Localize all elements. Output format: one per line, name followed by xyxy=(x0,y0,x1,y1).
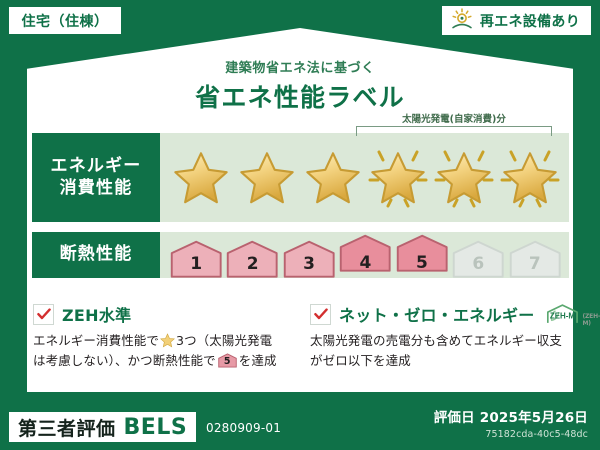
checkbox-zeh[interactable] xyxy=(33,304,54,325)
building-type-label: 住宅（住棟） xyxy=(22,11,109,31)
star-filled-solar xyxy=(365,133,431,222)
energy-performance-stars-area: 太陽光発電(自家消費)分 xyxy=(160,133,569,222)
criterion-nze-title: ネット・ゼロ・エネルギー xyxy=(339,302,535,326)
star-icon xyxy=(238,150,296,206)
zeh-m-logo-caption: (ZEH-M) xyxy=(582,313,600,327)
star-icon xyxy=(172,150,230,206)
renewable-badge-label: 再エネ設備あり xyxy=(480,11,580,31)
star-icon xyxy=(304,150,362,206)
zeh-m-house-icon: ZEH-M xyxy=(544,301,581,327)
insulation-grade-badge: 1 xyxy=(168,240,224,278)
criterion-nze-header: ネット・ゼロ・エネルギー ZEH-M (ZEH-M) xyxy=(310,303,568,325)
bels-logo-text: BELS xyxy=(124,415,188,440)
sparkle-rays xyxy=(431,140,497,216)
insulation-badge-inline: 5 xyxy=(218,353,237,368)
label-subtitle: 建築物省エネ法に基づく xyxy=(0,57,600,76)
energy-performance-label: エネルギー 消費性能 xyxy=(32,133,160,222)
check-icon xyxy=(314,308,328,320)
insulation-grade-area: 1 2 3 4 5 6 7 xyxy=(160,232,569,278)
check-icon xyxy=(37,308,51,320)
star-filled xyxy=(168,133,234,222)
insulation-grade-scale: 1 2 3 4 5 6 7 xyxy=(168,232,563,278)
evaluation-date: 評価日 2025年5月26日 xyxy=(434,406,588,426)
insulation-grade-badge: 4 xyxy=(337,234,393,278)
bels-certification-chip: 第三者評価 BELS xyxy=(9,412,196,442)
energy-performance-row: エネルギー 消費性能 xyxy=(32,133,569,222)
star-icon-inline xyxy=(160,333,175,348)
insulation-grade-badge: 6 xyxy=(450,240,506,278)
criterion-nze-text: 太陽光発電の売電分も含めてエネルギー収支がゼロ以下を達成 xyxy=(310,331,568,372)
star-filled-solar xyxy=(431,133,497,222)
insulation-grade-badge: 7 xyxy=(507,240,563,278)
insulation-grade-badge: 5 xyxy=(394,234,450,278)
page-title: 省エネ性能ラベル xyxy=(0,78,600,114)
criterion-zeh: ZEH水準 エネルギー消費性能で 3つ（太陽光発電 は考慮しない）、かつ断熱性能… xyxy=(33,303,291,372)
building-type-chip: 住宅（住棟） xyxy=(9,7,121,34)
insulation-performance-row: 断熱性能 1 2 3 4 5 6 7 xyxy=(32,232,569,278)
svg-text:ZEH-M: ZEH-M xyxy=(549,311,575,320)
star-filled-solar xyxy=(497,133,563,222)
sparkle-rays xyxy=(497,140,563,216)
third-party-eval-label: 第三者評価 xyxy=(18,414,116,441)
star-rating xyxy=(168,133,563,222)
renewable-equipment-badge: 再エネ設備あり xyxy=(442,6,591,35)
sparkle-rays xyxy=(365,140,431,216)
star-filled xyxy=(234,133,300,222)
zeh-m-logo: ZEH-M (ZEH-M) xyxy=(544,301,600,327)
document-uid: 75182cda-40c5-48dc xyxy=(485,429,588,440)
solar-bracket-label: 太陽光発電(自家消費)分 xyxy=(356,111,552,125)
star-filled xyxy=(300,133,366,222)
criterion-net-zero-energy: ネット・ゼロ・エネルギー ZEH-M (ZEH-M) 太陽光発電の売電分も含めて… xyxy=(310,303,568,372)
sun-solar-icon xyxy=(450,8,474,34)
checkbox-net-zero-energy[interactable] xyxy=(310,304,331,325)
insulation-grade-badge: 2 xyxy=(224,240,280,278)
bracket-line xyxy=(356,126,552,136)
criterion-zeh-title: ZEH水準 xyxy=(62,302,131,326)
certificate-number: 0280909-01 xyxy=(206,421,281,435)
criterion-zeh-text: エネルギー消費性能で 3つ（太陽光発電 は考慮しない）、かつ断熱性能で 5を達成 xyxy=(33,331,291,372)
criterion-zeh-header: ZEH水準 xyxy=(33,303,291,325)
energy-performance-label: 住宅（住棟） 再エネ設備あり 建築物省エネ法に基づく 省エネ性能ラベル xyxy=(0,0,600,450)
insulation-performance-label: 断熱性能 xyxy=(32,232,160,278)
insulation-grade-badge: 3 xyxy=(281,240,337,278)
